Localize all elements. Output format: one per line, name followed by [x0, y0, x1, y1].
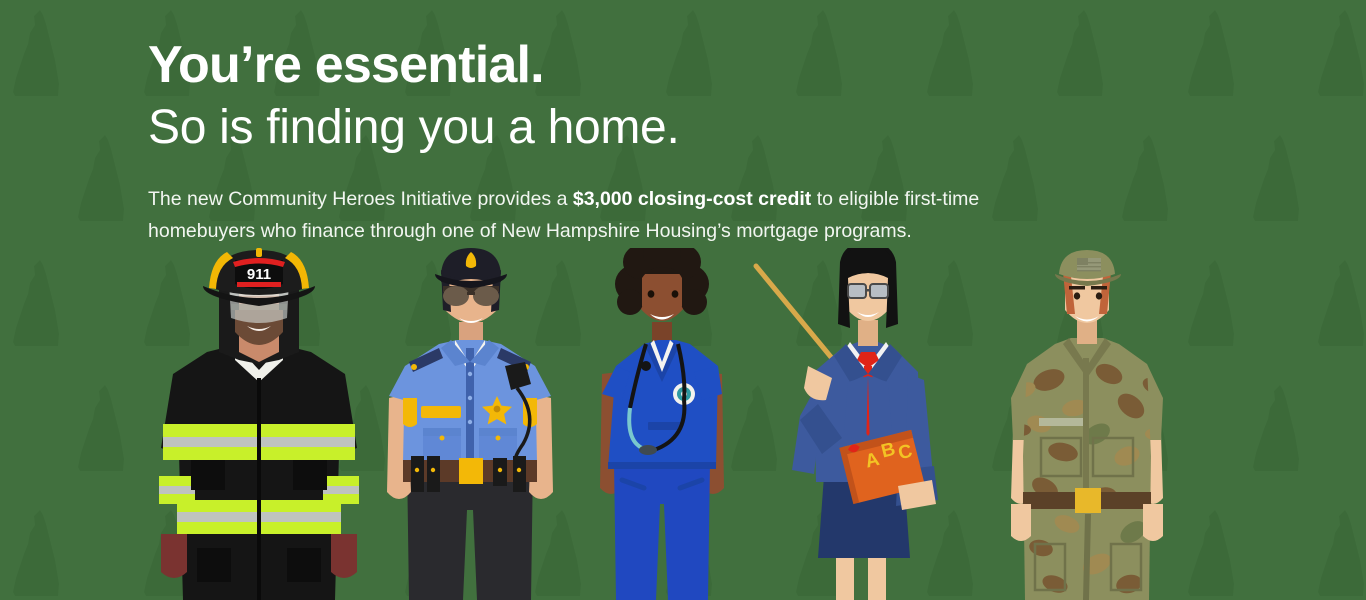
hero-figures: 911	[0, 248, 1366, 600]
headline-line-2: So is finding you a home.	[148, 101, 1108, 155]
headline-line-1: You’re essential.	[148, 38, 1108, 93]
subcopy-highlight: $3,000 closing-cost credit	[573, 188, 811, 210]
svg-text:911: 911	[247, 266, 271, 283]
figure-nurse	[592, 248, 732, 600]
community-heroes-banner: You’re essential. So is finding you a ho…	[0, 0, 1366, 600]
figure-teacher: A B C	[748, 248, 963, 600]
subcopy-before-bold: The new Community Heroes Initiative prov…	[148, 188, 573, 210]
subcopy-paragraph: The new Community Heroes Initiative prov…	[148, 184, 1083, 247]
figure-soldier	[1005, 248, 1169, 600]
figure-firefighter: 911	[143, 248, 375, 600]
figure-police-officer	[381, 248, 559, 600]
hero-text-block: You’re essential. So is finding you a ho…	[148, 38, 1108, 248]
